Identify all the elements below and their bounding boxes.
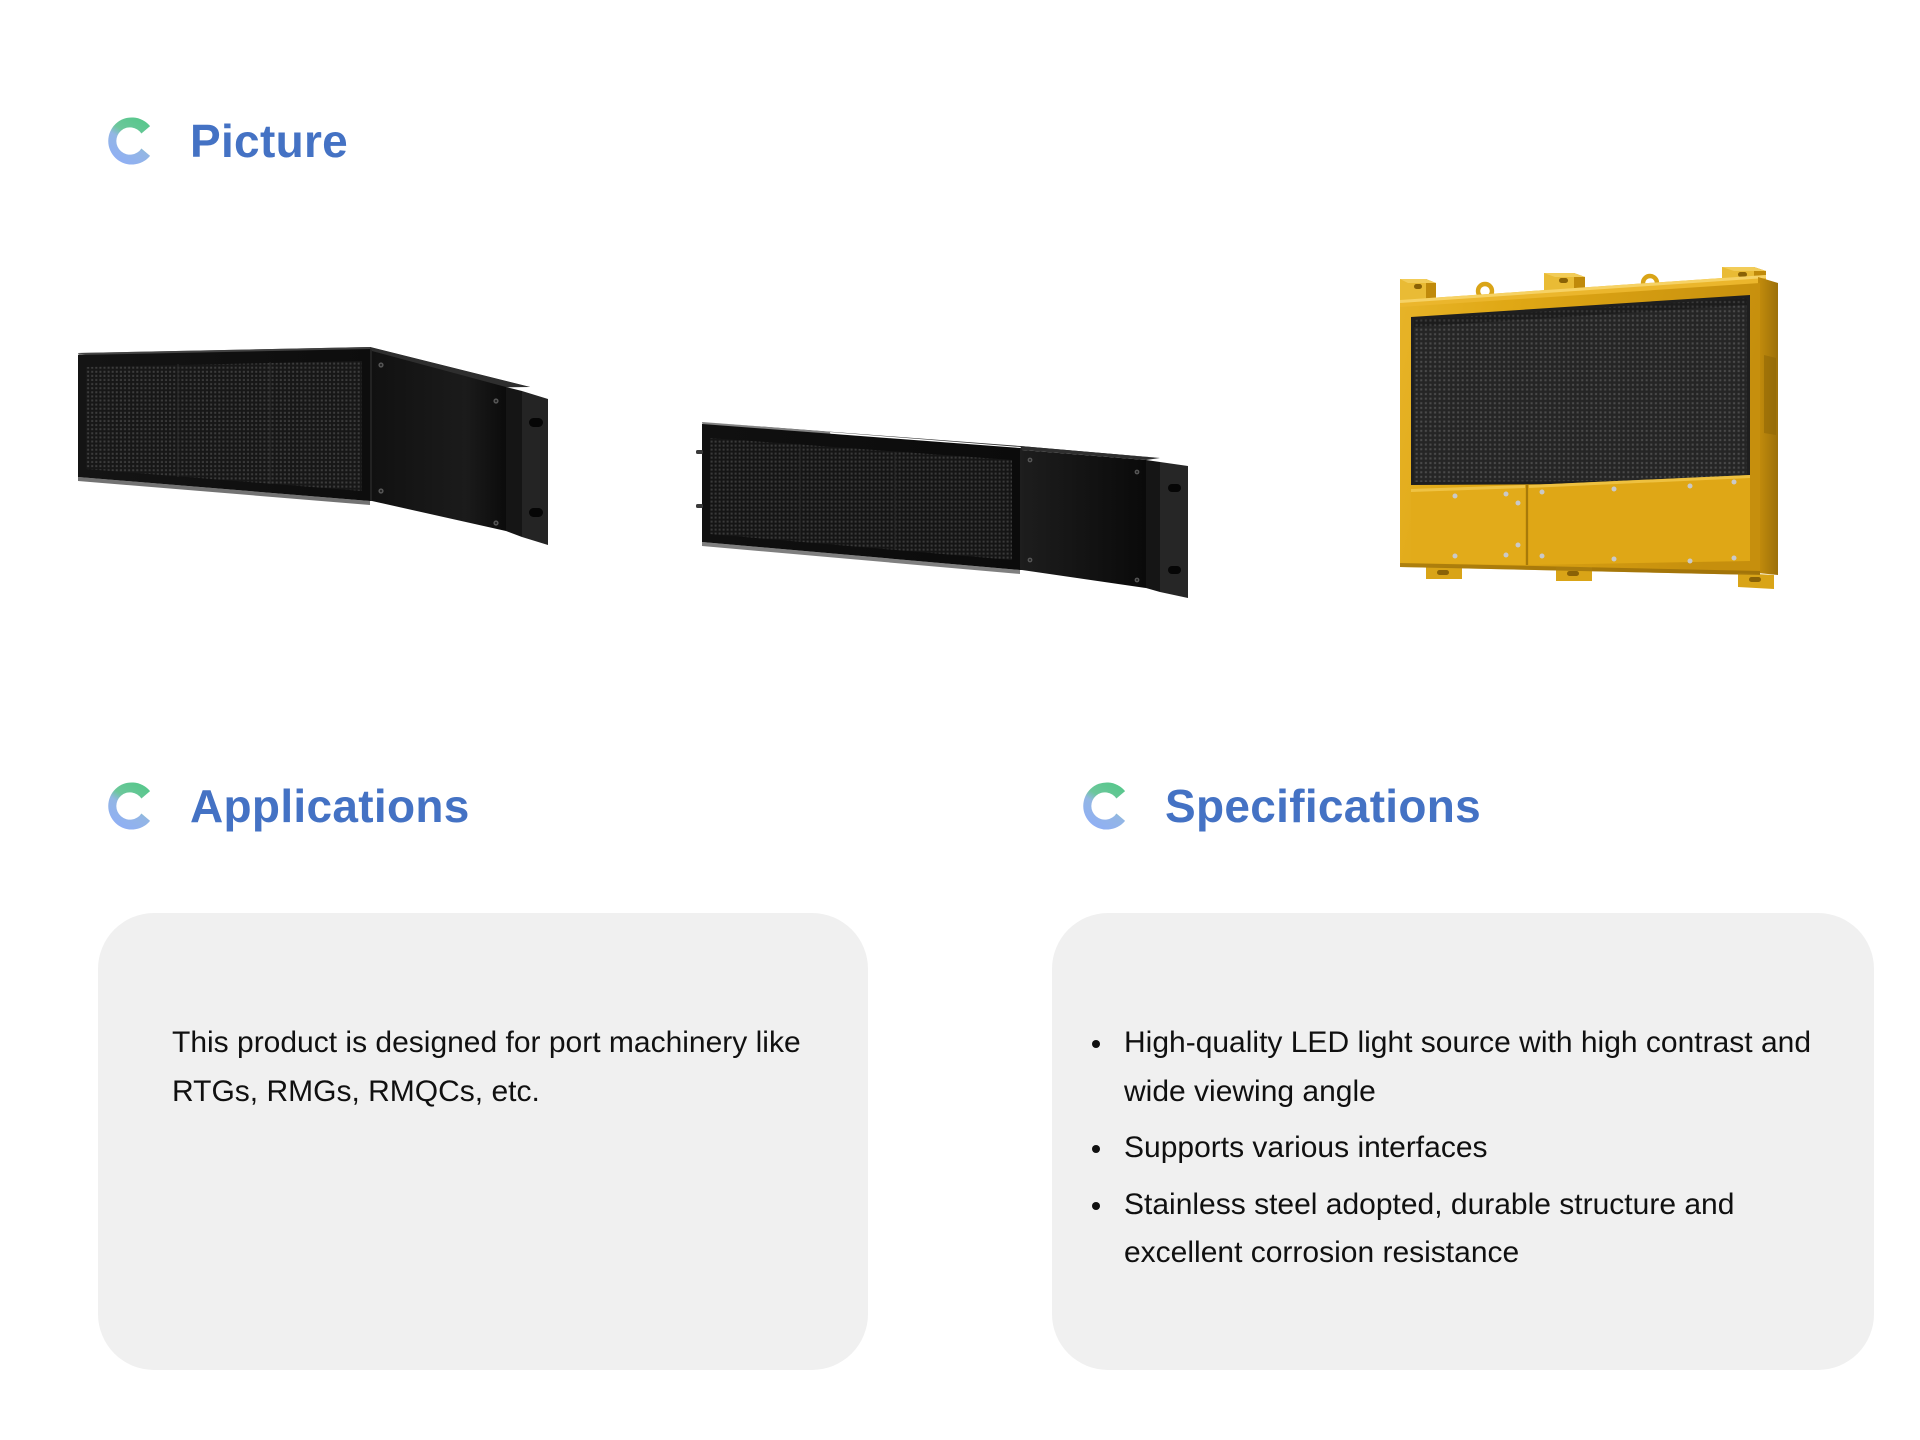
applications-text: This product is designed for port machin…	[172, 1019, 812, 1116]
section-title-applications: Applications	[190, 783, 470, 829]
list-item: Stainless steel adopted, durable structu…	[1082, 1181, 1812, 1278]
section-heading-applications: Applications	[98, 775, 470, 837]
product-photo-black-led-bar-left	[70, 325, 580, 575]
slide-root: Picture	[0, 0, 1920, 1440]
list-item: High-quality LED light source with high …	[1082, 1019, 1812, 1116]
specifications-bullet-list: High-quality LED light source with high …	[1082, 1019, 1834, 1278]
specifications-card: High-quality LED light source with high …	[1052, 913, 1874, 1370]
section-title-specifications: Specifications	[1165, 783, 1481, 829]
applications-card: This product is designed for port machin…	[98, 913, 868, 1370]
c-logo-icon	[98, 775, 160, 837]
product-photo-black-led-bar-right	[690, 400, 1235, 615]
applications-card-body: This product is designed for port machin…	[98, 1019, 868, 1116]
product-photo-yellow-led-display	[1378, 245, 1798, 605]
c-logo-icon	[98, 110, 160, 172]
section-heading-picture: Picture	[98, 110, 348, 172]
specifications-card-body: High-quality LED light source with high …	[1052, 1019, 1874, 1286]
list-item: Supports various interfaces	[1082, 1124, 1812, 1173]
section-title-picture: Picture	[190, 118, 348, 164]
section-heading-specifications: Specifications	[1073, 775, 1481, 837]
product-photo-strip	[0, 245, 1920, 665]
c-logo-icon	[1073, 775, 1135, 837]
